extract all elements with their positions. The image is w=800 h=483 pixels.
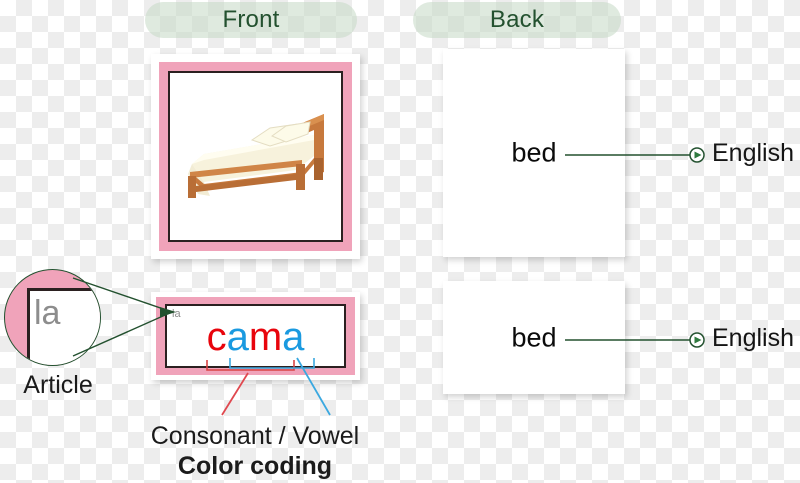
color-coding-annotation-label: Color coding — [140, 452, 370, 481]
back-card-2-word: bed — [443, 322, 625, 353]
english-label-1: English — [712, 139, 794, 168]
front-word-card[interactable]: la cama — [151, 292, 360, 380]
article-annotation-label: Article — [3, 371, 113, 400]
back-card-1-word: bed — [443, 138, 625, 169]
connector-overlay — [0, 0, 800, 483]
magnifier-circle: la — [4, 269, 101, 366]
pink-frame: ❀ Montessori Research & Development — [159, 62, 352, 251]
column-header-back: Back — [413, 2, 621, 38]
picture-inner-frame: ❀ Montessori Research & Development — [168, 71, 343, 242]
front-picture-card[interactable]: ❀ Montessori Research & Development — [151, 54, 360, 259]
play-circle-icon-2 — [690, 333, 704, 347]
back-card-1[interactable]: bed — [443, 49, 625, 257]
column-header-back-label: Back — [490, 6, 544, 34]
english-label-2: English — [712, 324, 794, 353]
column-header-front: Front — [145, 2, 357, 38]
pink-frame-word: la cama — [156, 297, 355, 375]
play-triangle-icon-1 — [695, 152, 702, 159]
back-card-2[interactable]: bed — [443, 281, 625, 394]
column-header-front-label: Front — [222, 6, 279, 34]
play-circle-icon-1 — [690, 148, 704, 162]
article-magnifier-callout: la — [4, 269, 101, 366]
consonant-vowel-annotation-label: Consonant / Vowel — [140, 422, 370, 451]
bed-illustration-icon — [174, 102, 338, 212]
play-triangle-icon-2 — [695, 337, 702, 344]
magnified-article-text: la — [34, 296, 60, 330]
word-inner-frame: la cama — [165, 304, 346, 368]
letter-brackets — [167, 306, 361, 382]
